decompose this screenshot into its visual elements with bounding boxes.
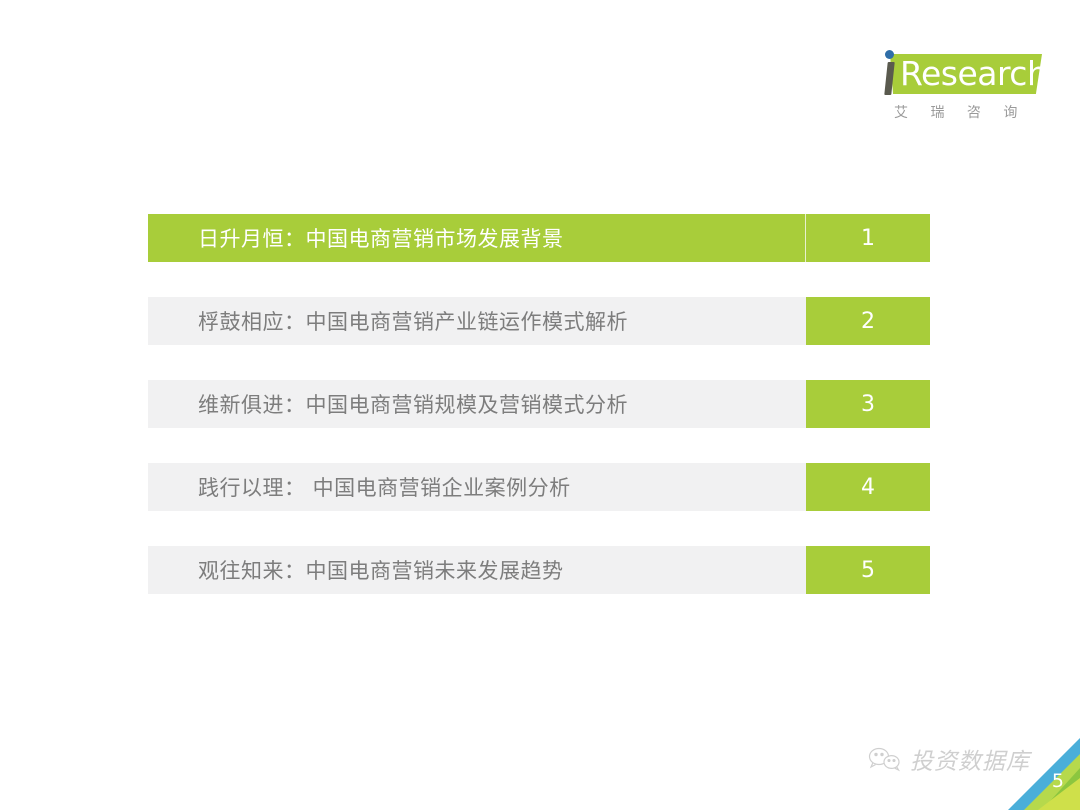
logo-mark: Research bbox=[876, 48, 1046, 100]
agenda-row-3[interactable]: 维新俱进：中国电商营销规模及营销模式分析 3 bbox=[148, 380, 930, 428]
agenda-row-title: 日升月恒：中国电商营销市场发展背景 bbox=[148, 214, 806, 262]
agenda-row-2[interactable]: 桴鼓相应：中国电商营销产业链运作模式解析 2 bbox=[148, 297, 930, 345]
wechat-icon bbox=[868, 745, 902, 773]
logo-brand-name: Research bbox=[900, 55, 1040, 93]
agenda-row-title: 维新俱进：中国电商营销规模及营销模式分析 bbox=[148, 380, 806, 428]
agenda-row-number: 5 bbox=[806, 546, 930, 594]
agenda-row-title: 践行以理： 中国电商营销企业案例分析 bbox=[148, 463, 806, 511]
agenda-row-1[interactable]: 日升月恒：中国电商营销市场发展背景 1 bbox=[148, 214, 930, 262]
agenda-row-4[interactable]: 践行以理： 中国电商营销企业案例分析 4 bbox=[148, 463, 930, 511]
corner-decoration: 5 bbox=[1002, 738, 1080, 810]
agenda-row-number: 4 bbox=[806, 463, 930, 511]
agenda-row-5[interactable]: 观往知来：中国电商营销未来发展趋势 5 bbox=[148, 546, 930, 594]
agenda-row-number: 2 bbox=[806, 297, 930, 345]
logo-brand-subtitle: 艾 瑞 咨 询 bbox=[894, 102, 1042, 122]
page-number: 5 bbox=[1052, 770, 1064, 792]
corner-triangles-icon bbox=[1002, 738, 1080, 810]
iresearch-logo: Research 艾 瑞 咨 询 bbox=[876, 48, 1046, 130]
agenda-list: 日升月恒：中国电商营销市场发展背景 1 桴鼓相应：中国电商营销产业链运作模式解析… bbox=[148, 214, 930, 594]
agenda-row-number: 1 bbox=[806, 214, 930, 262]
agenda-row-title: 桴鼓相应：中国电商营销产业链运作模式解析 bbox=[148, 297, 806, 345]
logo-i-dot-icon bbox=[885, 50, 894, 59]
agenda-row-title: 观往知来：中国电商营销未来发展趋势 bbox=[148, 546, 806, 594]
agenda-row-number: 3 bbox=[806, 380, 930, 428]
